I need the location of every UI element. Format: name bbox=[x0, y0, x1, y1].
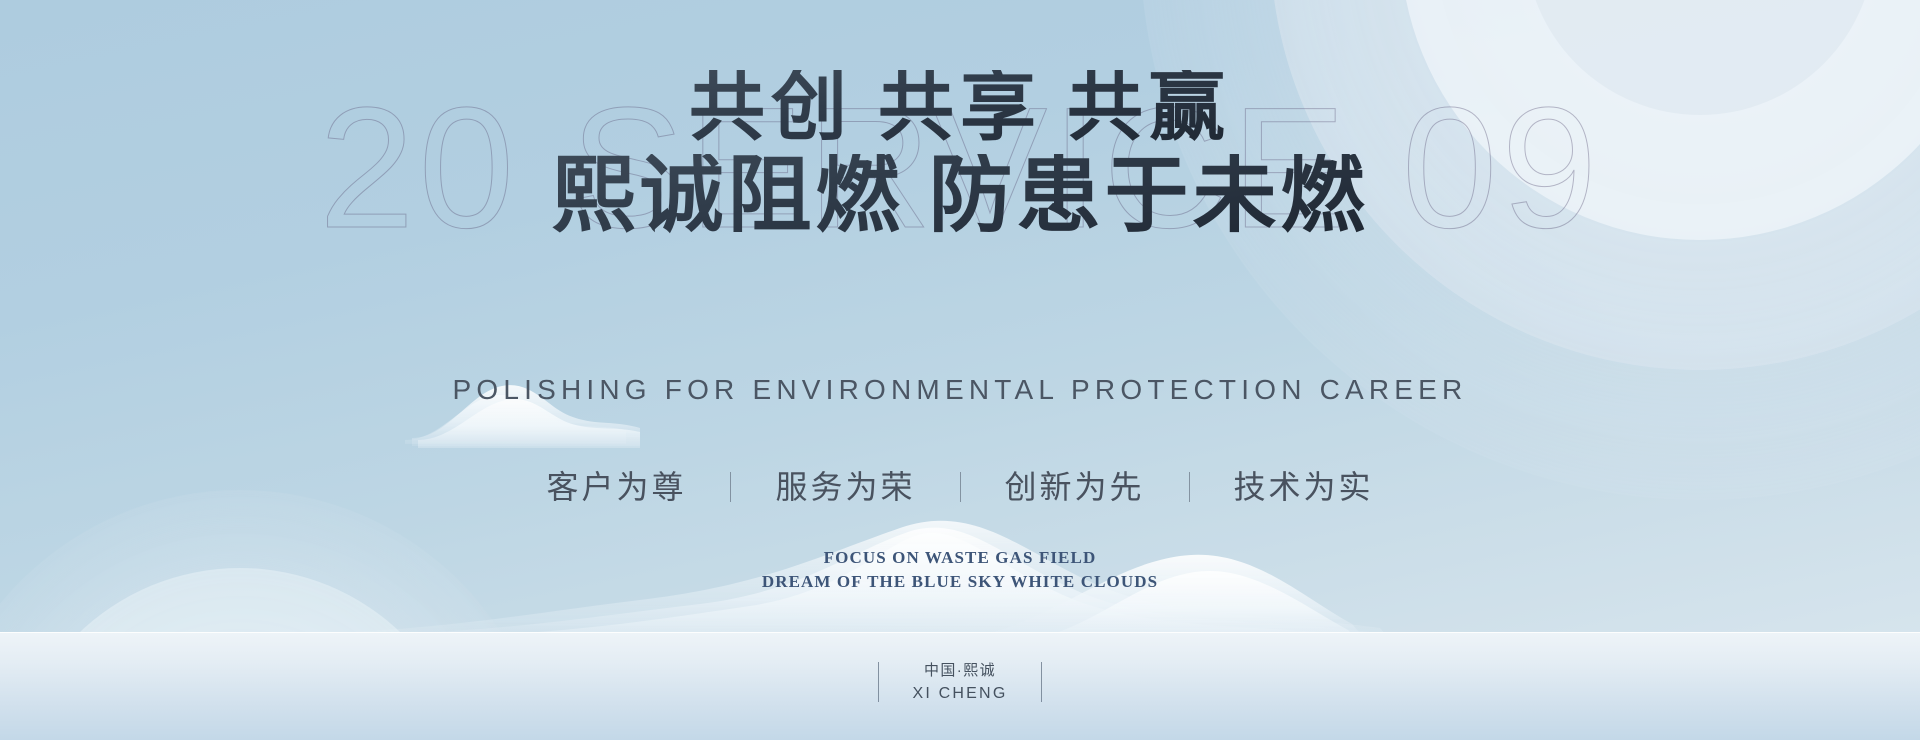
banner-canvas: 20 SERVICE 09 共创 共享 共赢 熙诚阻燃 防患于未燃 POLISH… bbox=[0, 0, 1920, 740]
footer-brand-text: 中国·熙诚 XI CHENG bbox=[913, 660, 1008, 705]
value-separator-2 bbox=[960, 472, 961, 502]
value-item-1: 客户为尊 bbox=[546, 462, 686, 508]
serif-tagline-line-2: DREAM OF THE BLUE SKY WHITE CLOUDS bbox=[0, 570, 1920, 594]
english-subtitle: POLISHING FOR ENVIRONMENTAL PROTECTION C… bbox=[0, 374, 1920, 406]
values-row: 客户为尊 服务为荣 创新为先 技术为实 bbox=[0, 462, 1920, 508]
serif-tagline-line-1: FOCUS ON WASTE GAS FIELD bbox=[0, 546, 1920, 570]
footer-bar-left bbox=[878, 662, 879, 702]
value-separator-1 bbox=[730, 472, 731, 502]
value-item-3: 创新为先 bbox=[1005, 462, 1145, 508]
headline-line-2: 熙诚阻燃 防患于未燃 bbox=[551, 154, 1368, 240]
footer-brand: 中国·熙诚 XI CHENG bbox=[0, 660, 1920, 705]
footer-brand-cn: 中国·熙诚 bbox=[913, 660, 1008, 682]
footer-brand-en: XI CHENG bbox=[913, 682, 1008, 705]
headline-block: 共创 共享 共赢 熙诚阻燃 防患于未燃 bbox=[0, 70, 1920, 239]
serif-tagline: FOCUS ON WASTE GAS FIELD DREAM OF THE BL… bbox=[0, 546, 1920, 594]
headline-line-1: 共创 共享 共赢 bbox=[689, 70, 1231, 148]
value-separator-3 bbox=[1189, 472, 1190, 502]
horizon-line bbox=[0, 632, 1920, 633]
footer-bar-right bbox=[1041, 662, 1042, 702]
value-item-4: 技术为实 bbox=[1234, 462, 1374, 508]
value-item-2: 服务为荣 bbox=[775, 462, 915, 508]
